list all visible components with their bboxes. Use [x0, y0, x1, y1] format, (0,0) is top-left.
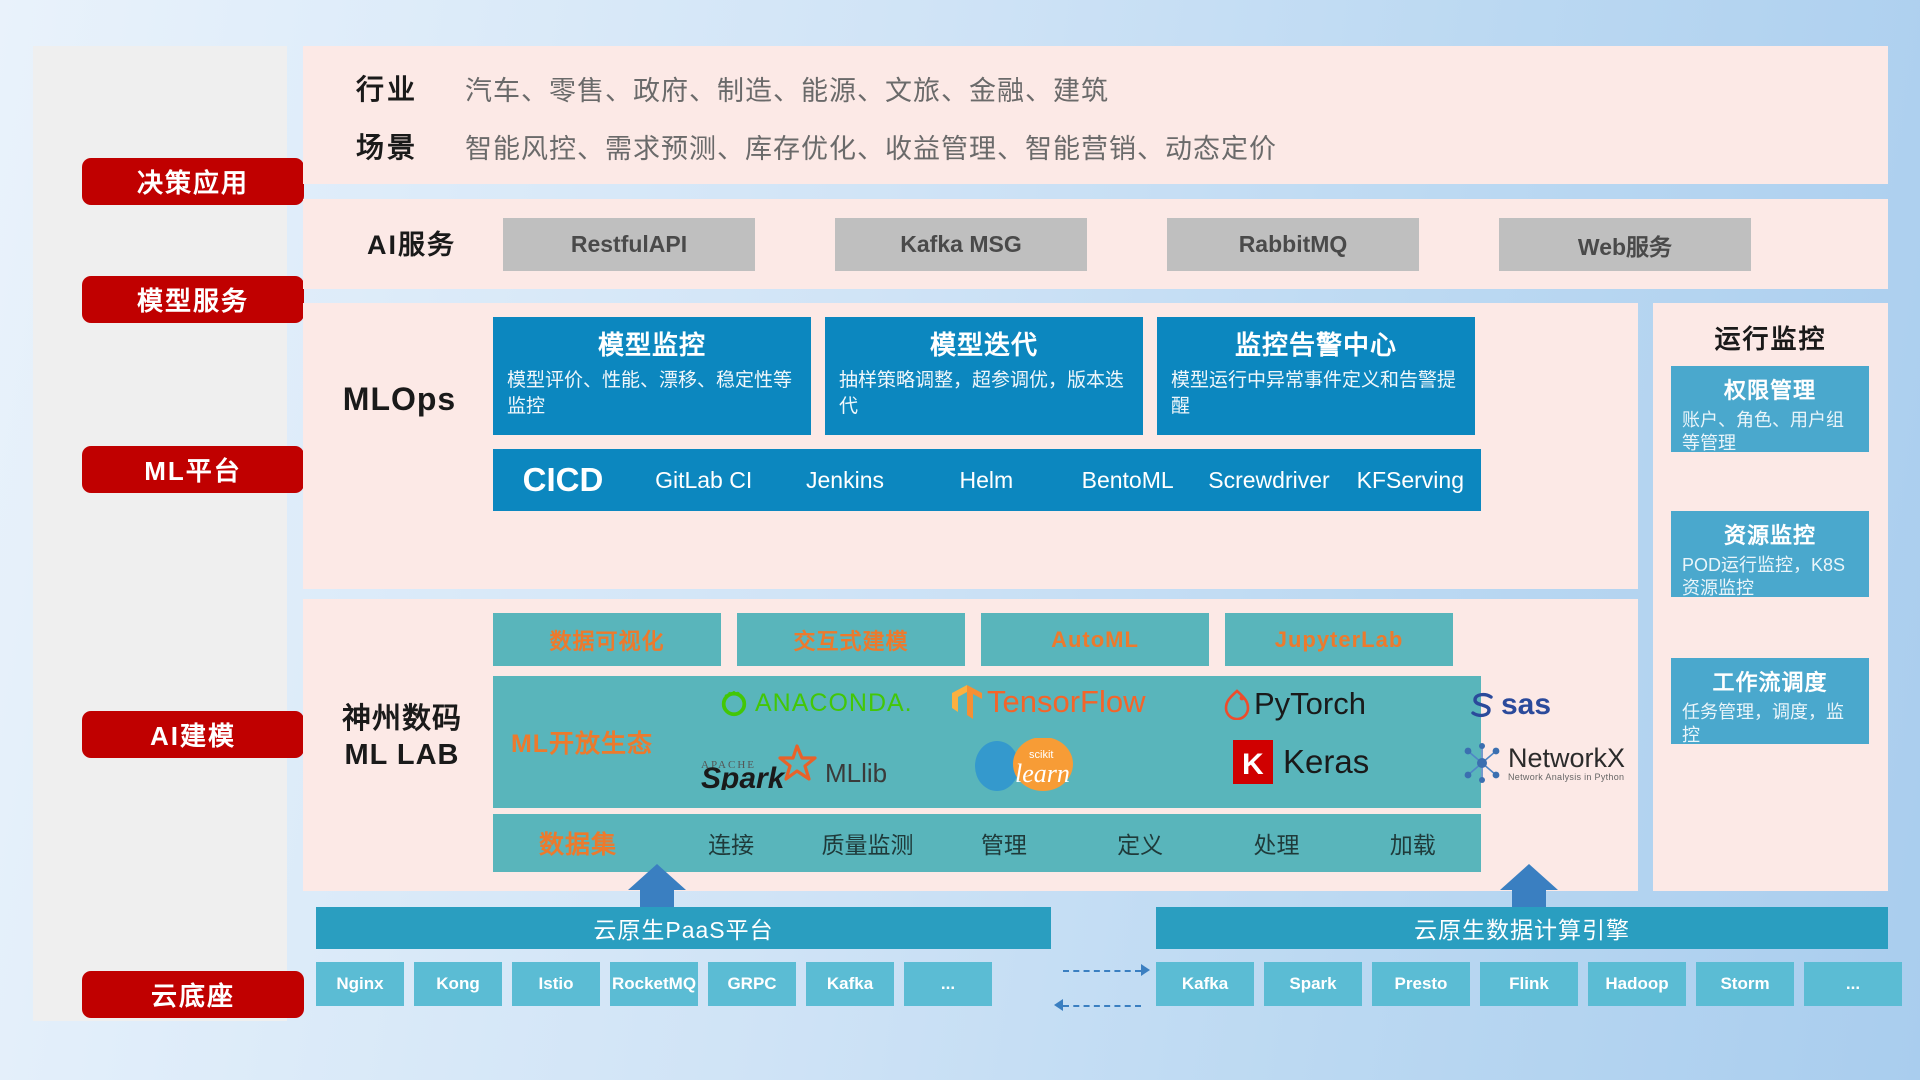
ai-service-chip[interactable]: RestfulAPI	[503, 218, 755, 271]
mlops-card-desc: 抽样策略调整，超参调优，版本迭代	[839, 368, 1129, 419]
cicd-item-gitlab-ci[interactable]: GitLab CI	[633, 469, 774, 492]
scenario-row-key: 场景	[327, 126, 447, 166]
connector-dashed-top	[1063, 970, 1141, 972]
scikit-learn-logo: scikit learn	[971, 738, 1121, 792]
connector-dashed-bottom	[1063, 1005, 1141, 1007]
cloud-bar-paas[interactable]: 云原生PaaS平台	[316, 907, 1051, 949]
ai-service-chip[interactable]: Web服务	[1499, 218, 1751, 271]
tensorflow-icon	[951, 684, 983, 720]
dataset-item-definition[interactable]: 定义	[1072, 826, 1208, 860]
dataset-item-loading[interactable]: 加载	[1345, 826, 1481, 860]
dataset-item-management[interactable]: 管理	[936, 826, 1072, 860]
anaconda-icon	[719, 688, 749, 718]
cloud-layer: 云原生PaaS平台 云原生数据计算引擎 Nginx Kong Istio Roc…	[303, 880, 1888, 1030]
networkx-icon	[1461, 742, 1503, 784]
rail-item-cloud-base[interactable]: 云底座	[82, 971, 304, 1018]
keras-icon: K	[1231, 738, 1275, 786]
anaconda-logo: ANACONDA.	[719, 688, 913, 718]
ml-ecosystem-label: ML开放生态	[493, 724, 671, 760]
rail-label-text: 云底座	[151, 976, 235, 1013]
compute-chip-more[interactable]: ...	[1804, 962, 1902, 1006]
paas-chip-rocketmq[interactable]: RocketMQ	[610, 962, 698, 1006]
industry-row-value: 汽车、零售、政府、制造、能源、文旅、金融、建筑	[465, 69, 1109, 108]
scenario-row-value: 智能风控、需求预测、库存优化、收益管理、智能营销、动态定价	[465, 127, 1277, 166]
paas-chip-istio[interactable]: Istio	[512, 962, 600, 1006]
ai-service-chip[interactable]: Kafka MSG	[835, 218, 1087, 271]
rail-label-text: ML平台	[144, 451, 242, 488]
svg-text:Spark: Spark	[701, 762, 786, 790]
paas-chip-nginx[interactable]: Nginx	[316, 962, 404, 1006]
scenario-row: 场景 智能风控、需求预测、库存优化、收益管理、智能营销、动态定价	[327, 126, 1277, 166]
monitoring-card-resource[interactable]: 资源监控 POD运行监控，K8S资源监控	[1671, 511, 1869, 597]
tool-chip-data-visualization[interactable]: 数据可视化	[493, 613, 721, 666]
anaconda-wordmark: ANACONDA.	[755, 689, 913, 718]
paas-chip-kafka[interactable]: Kafka	[806, 962, 894, 1006]
mlops-label: MLOps	[317, 381, 482, 418]
ml-lab-label: 神州数码 ML LAB	[313, 701, 491, 774]
connector-arrow-right	[1141, 964, 1150, 976]
pytorch-icon	[1223, 688, 1251, 720]
mllib-wordmark: MLlib	[825, 758, 887, 789]
dataset-item-connect[interactable]: 连接	[663, 826, 799, 860]
tensorflow-wordmark: TensorFlow	[987, 684, 1146, 720]
main-content: 行业 汽车、零售、政府、制造、能源、文旅、金融、建筑 场景 智能风控、需求预测、…	[303, 46, 1888, 1021]
pytorch-logo: PyTorch	[1223, 686, 1366, 722]
keras-wordmark: Keras	[1283, 743, 1369, 781]
rail-item-ai-modeling[interactable]: AI建模	[82, 711, 304, 758]
mlops-card-list: 模型监控 模型评价、性能、漂移、稳定性等监控 模型迭代 抽样策略调整，超参调优，…	[493, 317, 1475, 435]
ai-service-label: AI服务	[329, 223, 494, 262]
ai-service-band: AI服务 RestfulAPI Kafka MSG RabbitMQ Web服务	[303, 199, 1888, 289]
rail-item-ml-platform[interactable]: ML平台	[82, 446, 304, 493]
cicd-item-list: GitLab CI Jenkins Helm BentoML Screwdriv…	[633, 469, 1481, 492]
connector-arrow-left	[1054, 999, 1063, 1011]
rail-label-text: AI建模	[150, 716, 236, 753]
cicd-item-bentoml[interactable]: BentoML	[1057, 469, 1198, 492]
sas-wordmark: sas	[1501, 688, 1551, 722]
paas-chip-more[interactable]: ...	[904, 962, 992, 1006]
compute-chip-storm[interactable]: Storm	[1696, 962, 1794, 1006]
ml-lab-label-line1: 神州数码	[313, 701, 491, 737]
industry-row: 行业 汽车、零售、政府、制造、能源、文旅、金融、建筑	[327, 68, 1109, 108]
mlops-band: MLOps 模型监控 模型评价、性能、漂移、稳定性等监控 模型迭代 抽样策略调整…	[303, 303, 1638, 589]
monitoring-card-title: 工作流调度	[1682, 665, 1858, 697]
dataset-title: 数据集	[493, 825, 663, 861]
monitoring-card-title: 权限管理	[1682, 373, 1858, 405]
cicd-item-kfserving[interactable]: KFServing	[1340, 469, 1481, 492]
compute-chip-kafka[interactable]: Kafka	[1156, 962, 1254, 1006]
spark-icon: APACHE Spark	[701, 742, 819, 790]
industry-band: 行业 汽车、零售、政府、制造、能源、文旅、金融、建筑 场景 智能风控、需求预测、…	[303, 46, 1888, 184]
rail-label-text: 模型服务	[137, 281, 249, 318]
rail-label-text: 决策应用	[137, 163, 249, 200]
monitoring-card-desc: 任务管理，调度，监控	[1682, 701, 1858, 748]
monitoring-card-workflow[interactable]: 工作流调度 任务管理，调度，监控	[1671, 658, 1869, 744]
compute-chip-spark[interactable]: Spark	[1264, 962, 1362, 1006]
monitoring-card-permission[interactable]: 权限管理 账户、角色、用户组等管理	[1671, 366, 1869, 452]
mlops-card-title: 监控告警中心	[1171, 325, 1461, 362]
monitoring-card-desc: POD运行监控，K8S资源监控	[1682, 554, 1858, 601]
svg-text:learn: learn	[1015, 759, 1070, 788]
cicd-item-helm[interactable]: Helm	[916, 469, 1057, 492]
scikit-learn-icon: scikit learn	[971, 738, 1121, 792]
tool-chip-jupyterlab[interactable]: JupyterLab	[1225, 613, 1453, 666]
paas-chip-grpc[interactable]: GRPC	[708, 962, 796, 1006]
pytorch-wordmark: PyTorch	[1254, 686, 1366, 722]
rail-item-decision-app[interactable]: 决策应用	[82, 158, 304, 205]
networkx-tagline: Network Analysis in Python	[1508, 772, 1625, 782]
tool-chip-automl[interactable]: AutoML	[981, 613, 1209, 666]
mlops-card-model-iteration[interactable]: 模型迭代 抽样策略调整，超参调优，版本迭代	[825, 317, 1143, 435]
ai-service-chip-list: RestfulAPI Kafka MSG RabbitMQ Web服务	[503, 218, 1751, 271]
tool-chip-interactive-modeling[interactable]: 交互式建模	[737, 613, 965, 666]
left-rail: 决策应用 模型服务 ML平台 AI建模 云底座	[33, 46, 287, 1021]
rail-item-model-service[interactable]: 模型服务	[82, 276, 304, 323]
mlops-card-model-monitoring[interactable]: 模型监控 模型评价、性能、漂移、稳定性等监控	[493, 317, 811, 435]
svg-text:K: K	[1242, 748, 1264, 781]
ml-lab-tool-list: 数据可视化 交互式建模 AutoML JupyterLab	[493, 613, 1453, 666]
ml-lab-label-line2: ML LAB	[313, 737, 491, 773]
mlops-card-title: 模型迭代	[839, 325, 1129, 362]
networkx-wordmark: NetworkX	[1508, 745, 1625, 772]
ml-ecosystem-box: ML开放生态 ANACONDA.	[493, 676, 1481, 808]
compute-chip-hadoop[interactable]: Hadoop	[1588, 962, 1686, 1006]
paas-chip-list: Nginx Kong Istio RocketMQ GRPC Kafka ...	[316, 962, 992, 1006]
dataset-item-processing[interactable]: 处理	[1208, 826, 1344, 860]
industry-row-key: 行业	[327, 68, 447, 108]
cloud-bar-compute-engine[interactable]: 云原生数据计算引擎	[1156, 907, 1888, 949]
cicd-item-jenkins[interactable]: Jenkins	[774, 469, 915, 492]
networkx-logo: NetworkX Network Analysis in Python	[1461, 742, 1625, 784]
dataset-item-list: 连接 质量监测 管理 定义 处理 加载	[663, 826, 1481, 860]
ml-lab-band: 神州数码 ML LAB 数据可视化 交互式建模 AutoML JupyterLa…	[303, 599, 1638, 891]
cicd-item-screwdriver[interactable]: Screwdriver	[1198, 469, 1339, 492]
monitoring-card-title: 资源监控	[1682, 518, 1858, 550]
ml-ecosystem-logo-grid: ANACONDA. TensorFlow	[671, 676, 1481, 808]
keras-logo: K Keras	[1231, 738, 1369, 786]
mlops-card-title: 模型监控	[507, 325, 797, 362]
compute-chip-flink[interactable]: Flink	[1480, 962, 1578, 1006]
cicd-bar: CICD GitLab CI Jenkins Helm BentoML Scre…	[493, 449, 1481, 511]
tensorflow-logo: TensorFlow	[951, 684, 1146, 720]
runtime-monitoring-panel: 运行监控 权限管理 账户、角色、用户组等管理 资源监控 POD运行监控，K8S资…	[1653, 303, 1888, 891]
dataset-item-quality-monitoring[interactable]: 质量监测	[799, 826, 935, 860]
runtime-monitoring-title: 运行监控	[1653, 319, 1888, 356]
spark-mllib-logo: APACHE Spark MLlib	[701, 742, 887, 790]
mlops-card-desc: 模型评价、性能、漂移、稳定性等监控	[507, 368, 797, 419]
mlops-card-alert-center[interactable]: 监控告警中心 模型运行中异常事件定义和告警提醒	[1157, 317, 1475, 435]
cicd-title: CICD	[493, 461, 633, 499]
sas-icon	[1469, 691, 1499, 719]
monitoring-card-desc: 账户、角色、用户组等管理	[1682, 409, 1858, 456]
mlops-card-desc: 模型运行中异常事件定义和告警提醒	[1171, 368, 1461, 419]
sas-logo: sas	[1469, 688, 1551, 722]
paas-chip-kong[interactable]: Kong	[414, 962, 502, 1006]
compute-chip-presto[interactable]: Presto	[1372, 962, 1470, 1006]
ai-service-chip[interactable]: RabbitMQ	[1167, 218, 1419, 271]
compute-chip-list: Kafka Spark Presto Flink Hadoop Storm ..…	[1156, 962, 1902, 1006]
architecture-diagram: 决策应用 模型服务 ML平台 AI建模 云底座 行业 汽车、零售、政府、制造、能…	[0, 0, 1920, 1080]
